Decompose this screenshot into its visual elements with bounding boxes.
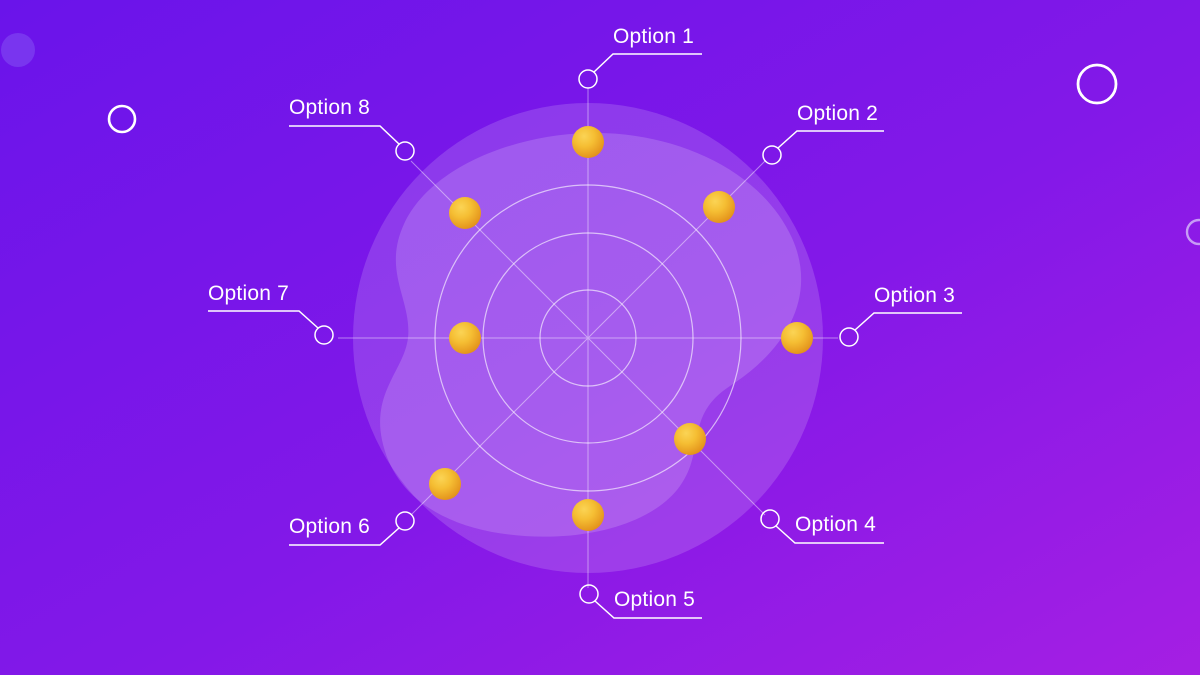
data-point-option-3[interactable] xyxy=(781,322,813,354)
callout-label-option-5[interactable]: Option 5 xyxy=(614,589,695,610)
callout-label-option-6[interactable]: Option 6 xyxy=(289,516,370,537)
radar-chart xyxy=(0,0,1200,675)
callout-label-option-7[interactable]: Option 7 xyxy=(208,283,289,304)
callout-line-option-3 xyxy=(840,313,962,346)
callout-label-option-2[interactable]: Option 2 xyxy=(797,103,878,124)
callout-line-option-2 xyxy=(763,131,884,164)
infographic-canvas: Option 1 Option 2 Option 3 Option 4 Opti… xyxy=(0,0,1200,675)
callout-label-option-8[interactable]: Option 8 xyxy=(289,97,370,118)
callout-label-option-1[interactable]: Option 1 xyxy=(613,26,694,47)
data-point-option-6[interactable] xyxy=(429,468,461,500)
callout-line-option-7 xyxy=(208,311,333,344)
data-point-option-7[interactable] xyxy=(449,322,481,354)
callout-label-option-3[interactable]: Option 3 xyxy=(874,285,955,306)
callout-line-option-1 xyxy=(579,54,702,88)
data-point-option-4[interactable] xyxy=(674,423,706,455)
data-point-option-5[interactable] xyxy=(572,499,604,531)
data-point-option-2[interactable] xyxy=(703,191,735,223)
callout-label-option-4[interactable]: Option 4 xyxy=(795,514,876,535)
data-point-option-1[interactable] xyxy=(572,126,604,158)
data-point-option-8[interactable] xyxy=(449,197,481,229)
callout-line-option-8 xyxy=(289,126,414,160)
